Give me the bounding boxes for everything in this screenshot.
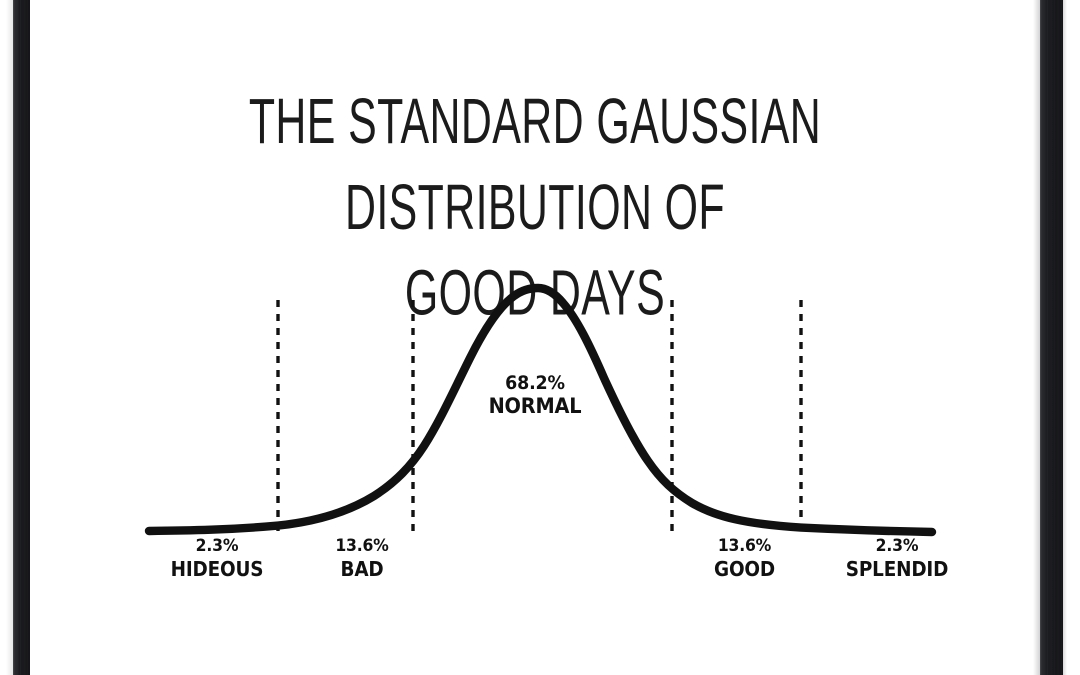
- band-percent-splendid: 2.3%: [810, 538, 985, 555]
- band-percent-hideous: 2.3%: [143, 538, 290, 555]
- picture-frame-rail-left: [13, 0, 30, 675]
- band-name-bad: BAD: [302, 559, 422, 579]
- band-label-good: 13.6% GOOD: [672, 538, 817, 579]
- band-name-normal: NORMAL: [457, 396, 613, 417]
- poster-artwork: THE STANDARD GAUSSIAN DISTRIBUTION OF GO…: [30, 0, 1040, 675]
- band-label-splendid: 2.3% SPLENDID: [802, 538, 992, 579]
- band-name-good: GOOD: [678, 559, 811, 579]
- band-label-normal: 68.2% NORMAL: [450, 374, 620, 417]
- band-label-hideous: 2.3% HIDEOUS: [137, 538, 297, 579]
- picture-frame-rail-right: [1040, 0, 1063, 675]
- band-percent-normal: 68.2%: [457, 374, 613, 393]
- frame-outer-edge-left: [6, 0, 13, 675]
- band-name-splendid: SPLENDID: [810, 559, 985, 579]
- gaussian-chart: 68.2% NORMAL 2.3% HIDEOUS 13.6% BAD 13.6…: [30, 0, 1040, 675]
- band-percent-bad: 13.6%: [302, 538, 422, 555]
- band-label-bad: 13.6% BAD: [297, 538, 427, 579]
- band-percent-good: 13.6%: [678, 538, 811, 555]
- framed-poster-scene: THE STANDARD GAUSSIAN DISTRIBUTION OF GO…: [0, 0, 1080, 675]
- band-name-hideous: HIDEOUS: [143, 559, 290, 579]
- frame-outer-edge-right: [1063, 0, 1067, 675]
